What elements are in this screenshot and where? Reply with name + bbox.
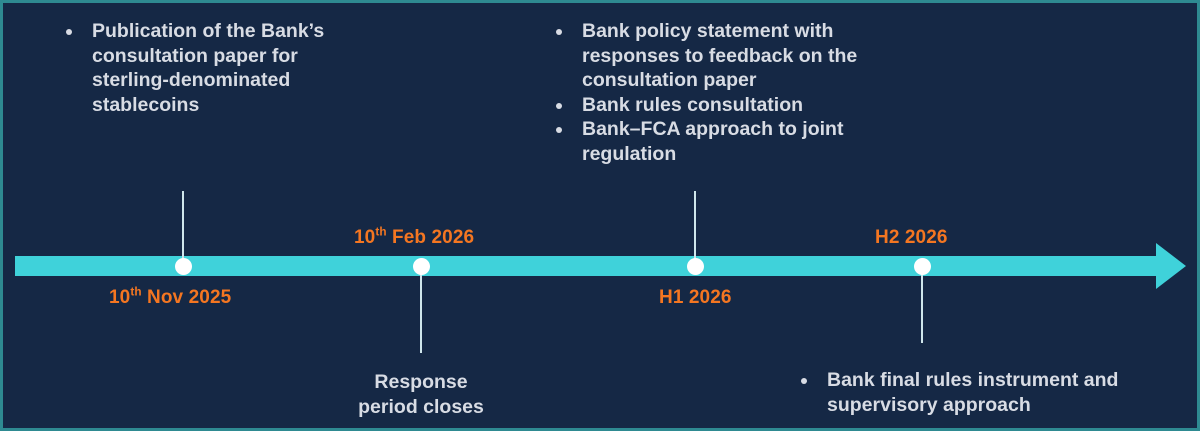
- callout-h1-2026-list: Bank policy statement with responses to …: [548, 19, 918, 166]
- connector-stem-h1-2026: [694, 191, 696, 263]
- bullet-icon: [556, 103, 562, 109]
- bullet-icon: [801, 378, 807, 384]
- bullet-icon: [556, 127, 562, 133]
- date-feb-2026-number: 10: [354, 227, 375, 248]
- callout-h2-2026: Bank final rules instrument and supervis…: [793, 368, 1143, 417]
- date-label-h2-2026: H2 2026: [875, 227, 948, 249]
- callout-nov-2025-item-1: Publication of the Bank’s consultation p…: [92, 20, 324, 116]
- milestone-dot-feb-2026[interactable]: [413, 258, 430, 275]
- timeline-slide: 10th Nov 2025 Publication of the Bank’s …: [0, 0, 1200, 431]
- list-item: Publication of the Bank’s consultation p…: [58, 19, 333, 117]
- timeline-arrow-head-icon: [1156, 243, 1186, 289]
- date-nov-2025-number: 10: [109, 287, 130, 308]
- date-h2-2026-number: H2 2026: [875, 227, 948, 248]
- date-h1-2026-number: H1 2026: [659, 287, 732, 308]
- date-nov-2025-ordinal: th: [130, 286, 141, 299]
- callout-h1-2026: Bank policy statement with responses to …: [548, 19, 918, 166]
- callout-feb-2026: Response period closes: [311, 370, 531, 421]
- date-feb-2026-rest: Feb 2026: [387, 227, 475, 248]
- callout-h2-2026-list: Bank final rules instrument and supervis…: [793, 368, 1143, 417]
- bullet-icon: [556, 29, 562, 35]
- list-item: Bank final rules instrument and supervis…: [793, 368, 1143, 417]
- list-item: Bank policy statement with responses to …: [548, 19, 918, 93]
- callout-feb-2026-line-1: Response: [311, 370, 531, 395]
- callout-h1-2026-item-3: Bank–FCA approach to joint regulation: [582, 118, 843, 165]
- date-label-feb-2026: 10th Feb 2026: [354, 227, 474, 249]
- date-feb-2026-ordinal: th: [375, 226, 386, 239]
- callout-feb-2026-line-2: period closes: [311, 395, 531, 420]
- connector-stem-nov-2025: [182, 191, 184, 263]
- list-item: Bank–FCA approach to joint regulation: [548, 117, 918, 166]
- callout-h2-2026-item-1: Bank final rules instrument and supervis…: [827, 369, 1118, 416]
- connector-stem-h2-2026: [921, 269, 923, 343]
- milestone-dot-h2-2026[interactable]: [914, 258, 931, 275]
- date-label-nov-2025: 10th Nov 2025: [109, 287, 231, 309]
- connector-stem-feb-2026: [420, 269, 422, 353]
- date-label-h1-2026: H1 2026: [659, 287, 732, 309]
- list-item: Bank rules consultation: [548, 93, 918, 118]
- callout-nov-2025: Publication of the Bank’s consultation p…: [58, 19, 333, 117]
- callout-h1-2026-item-1: Bank policy statement with responses to …: [582, 20, 857, 91]
- date-nov-2025-rest: Nov 2025: [142, 287, 232, 308]
- bullet-icon: [66, 29, 72, 35]
- callout-h1-2026-item-2: Bank rules consultation: [582, 94, 803, 116]
- milestone-dot-h1-2026[interactable]: [687, 258, 704, 275]
- milestone-dot-nov-2025[interactable]: [175, 258, 192, 275]
- callout-nov-2025-list: Publication of the Bank’s consultation p…: [58, 19, 333, 117]
